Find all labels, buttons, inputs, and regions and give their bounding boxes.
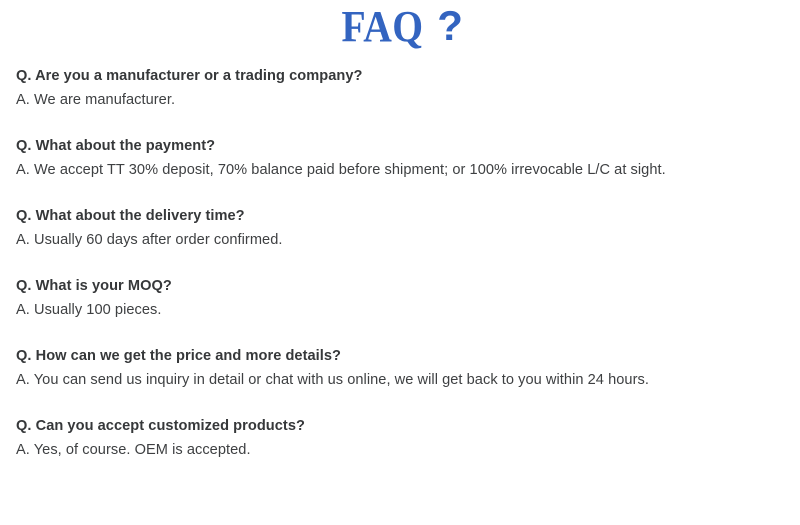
faq-item: Q. Can you accept customized products? A… (16, 414, 792, 462)
faq-item: Q. Are you a manufacturer or a trading c… (16, 64, 792, 112)
faq-answer: A. Usually 100 pieces. (16, 298, 792, 322)
faq-page: FAQ? Q. Are you a manufacturer or a trad… (0, 0, 800, 525)
faq-question: Q. Are you a manufacturer or a trading c… (16, 64, 792, 88)
faq-question: Q. How can we get the price and more det… (16, 344, 792, 368)
question-mark-icon: ? (437, 1, 463, 51)
faq-answer: A. You can send us inquiry in detail or … (16, 368, 792, 392)
faq-item: Q. What about the delivery time? A. Usua… (16, 204, 792, 252)
faq-answer: A. We accept TT 30% deposit, 70% balance… (16, 158, 792, 182)
faq-list: Q. Are you a manufacturer or a trading c… (16, 64, 792, 462)
faq-answer: A. Usually 60 days after order confirmed… (16, 228, 792, 252)
faq-answer: A. Yes, of course. OEM is accepted. (16, 438, 792, 462)
faq-question: Q. Can you accept customized products? (16, 414, 792, 438)
faq-question: Q. What is your MOQ? (16, 274, 792, 298)
faq-question: Q. What about the delivery time? (16, 204, 792, 228)
faq-item: Q. What is your MOQ? A. Usually 100 piec… (16, 274, 792, 322)
faq-answer: A. We are manufacturer. (16, 88, 792, 112)
faq-item: Q. What about the payment? A. We accept … (16, 134, 792, 182)
faq-question: Q. What about the payment? (16, 134, 792, 158)
page-title-text: FAQ (342, 2, 424, 52)
faq-item: Q. How can we get the price and more det… (16, 344, 792, 392)
page-title: FAQ? (0, 2, 800, 52)
